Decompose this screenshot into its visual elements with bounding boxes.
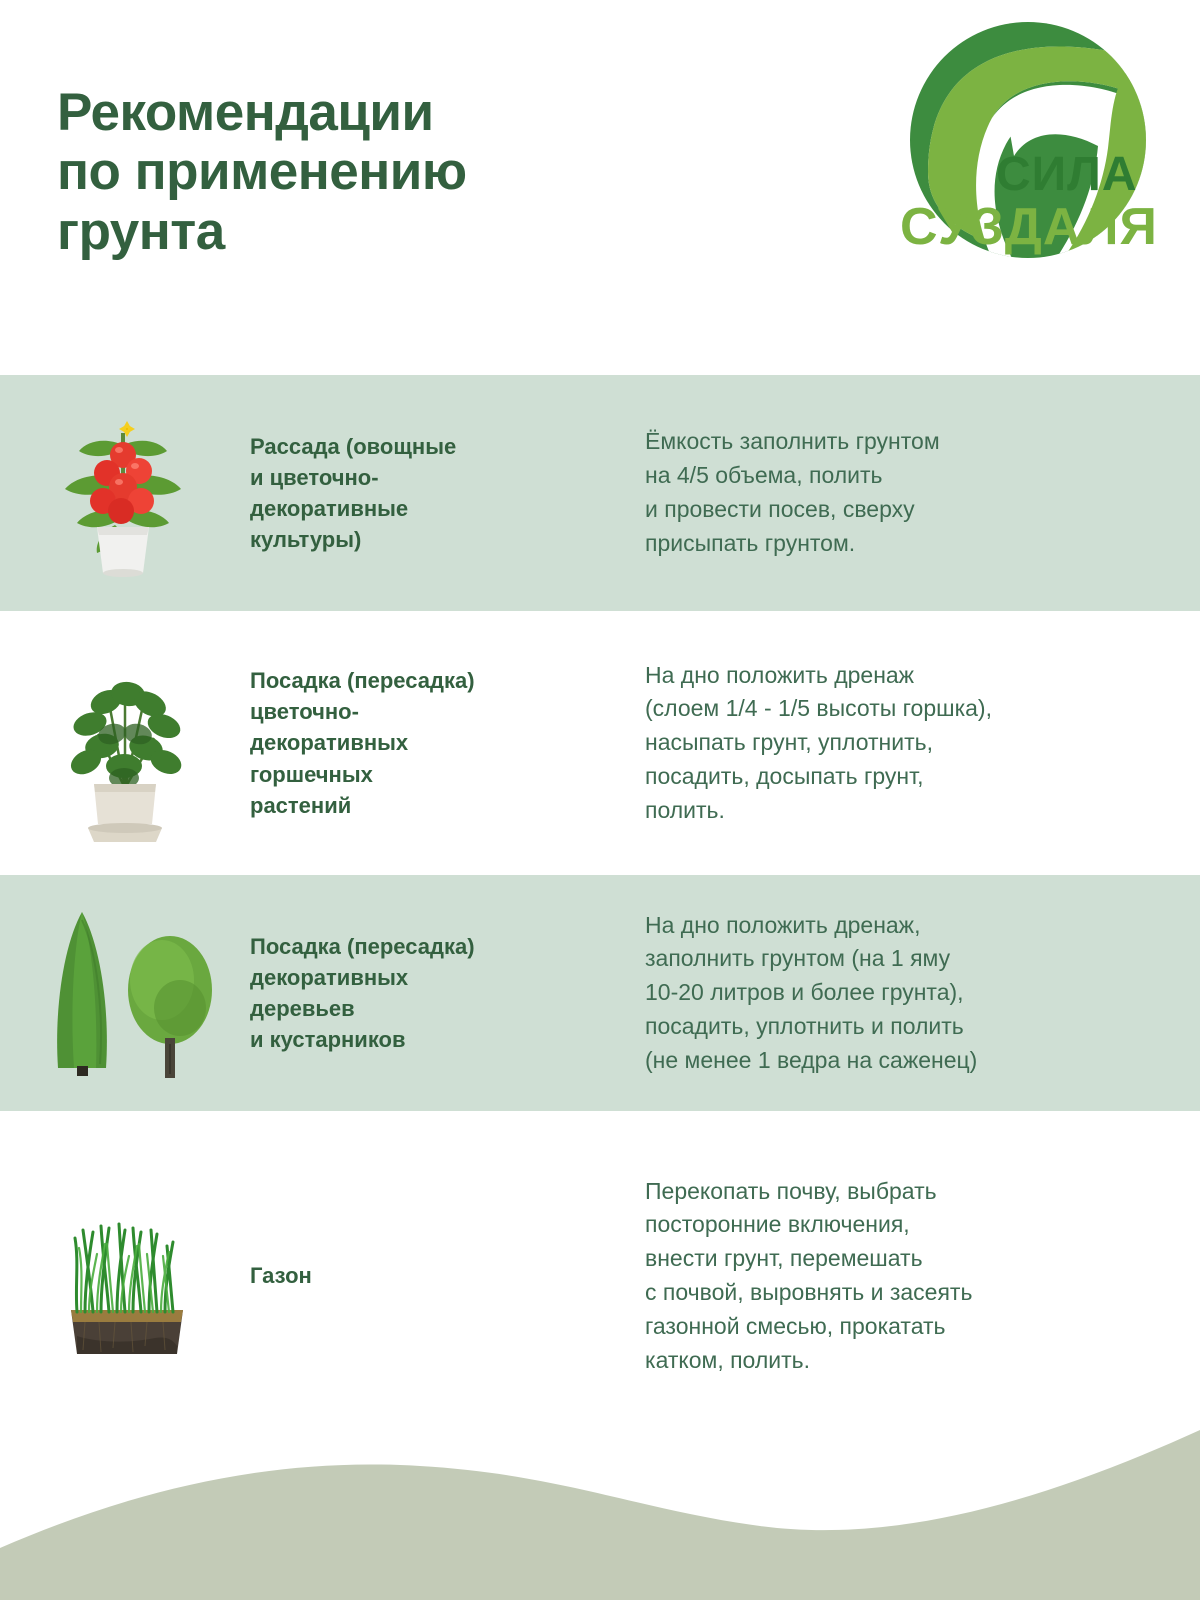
- potted-houseplant-icon: [40, 638, 210, 848]
- logo-text-line2: СУЗДАЛЯ: [900, 198, 1158, 256]
- row-description: Ёмкость заполнить грунтом на 4/5 объема,…: [645, 425, 1200, 560]
- row-image-cell: [0, 875, 250, 1111]
- table-row: Рассада (овощные и цветочно- декоративны…: [0, 375, 1200, 611]
- row-image-cell: [0, 611, 250, 875]
- page-header: Рекомендации по применению грунта СИЛА С…: [0, 0, 1200, 375]
- row-image-cell: [0, 375, 250, 611]
- row-title: Посадка (пересадка) цветочно- декоративн…: [250, 665, 645, 821]
- logo-text-line1: СИЛА: [996, 148, 1138, 201]
- row-description: На дно положить дренаж, заполнить грунто…: [645, 909, 1200, 1078]
- row-description: На дно положить дренаж (слоем 1/4 - 1/5 …: [645, 659, 1200, 828]
- recommendations-table: Рассада (овощные и цветочно- декоративны…: [0, 375, 1200, 1441]
- lawn-turf-block-icon: [35, 1186, 215, 1366]
- row-image-cell: [0, 1111, 250, 1441]
- row-title: Газон: [250, 1260, 645, 1291]
- table-row: Посадка (пересадка) декоративных деревье…: [0, 875, 1200, 1111]
- row-description: Перекопать почву, выбрать посторонние вк…: [645, 1175, 1200, 1378]
- row-title: Посадка (пересадка) декоративных деревье…: [250, 931, 645, 1056]
- ornamental-trees-and-shrubs-icon: [30, 898, 220, 1088]
- tomato-seedling-in-pot-icon: [45, 393, 205, 593]
- brand-logo[interactable]: СИЛА СУЗДАЛЯ: [888, 22, 1160, 284]
- table-row: Посадка (пересадка) цветочно- декоративн…: [0, 611, 1200, 875]
- page-title: Рекомендации по применению грунта: [57, 83, 697, 261]
- table-row: Газон Перекопать почву, выбрать посторон…: [0, 1111, 1200, 1441]
- row-title: Рассада (овощные и цветочно- декоративны…: [250, 431, 645, 556]
